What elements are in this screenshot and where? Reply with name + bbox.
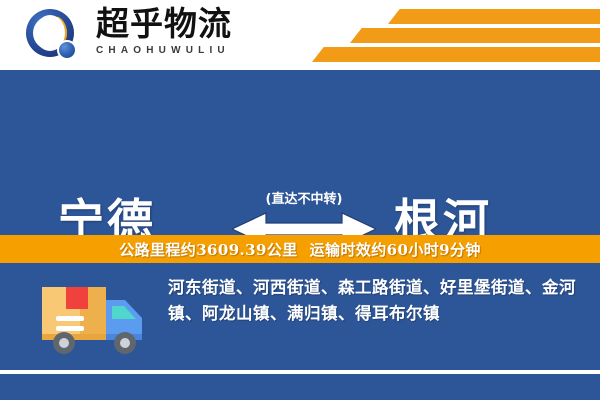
brand-name-chinese: 超乎物流 — [96, 6, 276, 42]
coverage-line-2: 镇、阿龙山镇、满归镇、得耳布尔镇 — [168, 304, 440, 323]
direct-shipping-note: (直达不中转) — [232, 188, 376, 207]
route-panel: 宁德 (直达不中转) 【往返运输】 根河 — [0, 70, 600, 233]
logo-accent-dot — [57, 40, 77, 60]
route-stats-bar: 公路里程约3609.39公里运输时效约60小时9分钟 — [0, 235, 600, 263]
brand-name-pinyin: CHAOHUWULIU — [96, 44, 276, 58]
logistics-route-poster: 超乎物流 CHAOHUWULIU 宁德 (直达不中转) 【往返运输】 根河 公路… — [0, 0, 600, 400]
distance-text: 公路里程约3609.39公里 — [119, 241, 297, 259]
coverage-line-1: 河东街道、河西街道、森工路街道、好里堡街道、金河 — [168, 278, 576, 297]
delivery-truck-icon — [30, 274, 160, 360]
header-stripes-decoration — [300, 6, 600, 66]
poster-header: 超乎物流 CHAOHUWULIU — [0, 0, 600, 70]
bottom-strip — [0, 374, 600, 400]
header-stripe-3 — [312, 47, 600, 62]
coverage-areas-text: 河东街道、河西街道、森工路街道、好里堡街道、金河镇、阿龙山镇、满归镇、得耳布尔镇 — [168, 275, 586, 327]
stats-text-wrapper: 公路里程约3609.39公里运输时效约60小时9分钟 — [119, 239, 481, 260]
brand-block: 超乎物流 CHAOHUWULIU — [96, 6, 276, 58]
company-logo-icon — [26, 9, 80, 63]
header-stripe-2 — [350, 28, 600, 43]
header-stripe-1 — [388, 9, 600, 24]
coverage-area-panel: 河东街道、河西街道、森工路街道、好里堡街道、金河镇、阿龙山镇、满归镇、得耳布尔镇 — [0, 263, 600, 370]
duration-text: 运输时效约60小时9分钟 — [310, 241, 481, 259]
